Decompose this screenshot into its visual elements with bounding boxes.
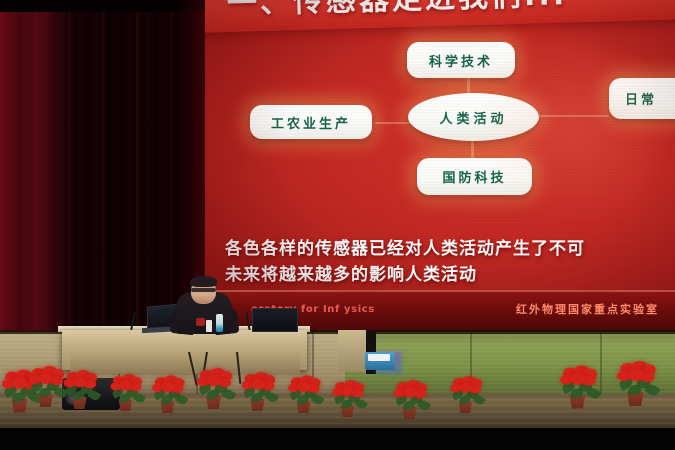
slide-node-daily-life: 日常: [609, 78, 675, 119]
slide-node-science-technology: 科学技术: [407, 42, 515, 78]
water-bottle: [216, 314, 223, 332]
curtain-edge-light: [0, 0, 60, 340]
speaker-glasses: [191, 288, 216, 292]
projection-screen: 一、传感器走进我们... 科学技术 工农业生产 人类活动 国防科技 日常 各色各…: [205, 0, 675, 332]
slide-body-text: 各色各样的传感器已经对人类活动产生了不可 未来将越来越多的影响人类活动: [225, 236, 675, 288]
slide-body-line-1: 各色各样的传感器已经对人类活动产生了不可: [225, 236, 675, 262]
slide-title: 一、传感器走进我们...: [226, 0, 675, 31]
poinsettia-bloom: [403, 387, 416, 397]
blue-box-label: [368, 354, 390, 361]
poinsettia-bloom: [297, 382, 310, 392]
desk-monitor: [252, 308, 298, 332]
poinsettia-plant: [332, 380, 361, 417]
banner-chinese-text: 红外物理国家重点实验室: [516, 301, 659, 317]
connector-industry: [375, 122, 411, 124]
poinsettia-bloom: [628, 369, 643, 381]
table-skirt: [70, 352, 300, 374]
stage-front-edge: [0, 428, 675, 450]
banner-divider: [205, 290, 675, 292]
paper-cup: [206, 320, 212, 332]
poinsettia-bloom: [460, 382, 473, 392]
plant-leaf: [644, 382, 660, 397]
poinsettia-bloom: [161, 382, 174, 392]
poinsettia-plant: [287, 375, 317, 414]
poinsettia-plant: [28, 366, 64, 412]
poinsettia-plant: [196, 368, 232, 414]
slide-node-human-activity: 人类活动: [408, 93, 539, 141]
poinsettia-plant: [110, 374, 139, 411]
speaker-hair: [190, 276, 217, 287]
poinsettia-bloom: [342, 386, 355, 396]
slide-node-national-defense: 国防科技: [417, 158, 532, 195]
poinsettia-plant: [63, 370, 95, 412]
poinsettia-bloom: [120, 380, 133, 390]
poinsettia-plant: [393, 380, 425, 422]
poinsettia-plant: [450, 376, 479, 413]
poinsettia-bloom: [73, 377, 86, 387]
poinsettia-bloom: [39, 373, 53, 384]
screenshot-root: 一、传感器走进我们... 科学技术 工农业生产 人类活动 国防科技 日常 各色各…: [0, 0, 675, 450]
desk-red-object: [196, 318, 205, 326]
slide-body-line-2: 未来将越来越多的影响人类活动: [225, 262, 675, 288]
poinsettia-plant: [616, 361, 660, 417]
poinsettia-plant: [151, 375, 181, 414]
side-podium: [338, 330, 366, 372]
slide-node-industry-agriculture: 工农业生产: [250, 105, 372, 139]
poinsettia-bloom: [571, 373, 586, 385]
poinsettia-bloom: [13, 377, 28, 389]
poinsettia-bloom: [207, 375, 221, 386]
connector-tech: [467, 78, 470, 94]
poinsettia-plant: [241, 372, 273, 414]
connector-defense: [471, 141, 474, 159]
connector-daily: [539, 115, 609, 117]
poinsettia-plant: [559, 366, 599, 417]
poinsettia-bloom: [251, 379, 264, 389]
